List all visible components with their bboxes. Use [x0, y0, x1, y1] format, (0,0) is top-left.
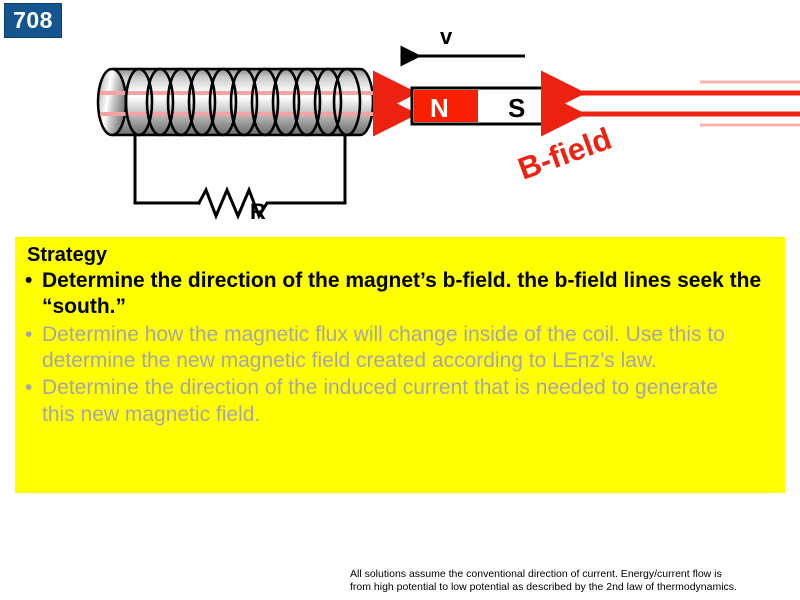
bfield-arrows-right — [546, 82, 800, 125]
strategy-bullet-3: • Determine the direction of the induced… — [25, 375, 775, 428]
bullet-marker: • — [25, 268, 42, 294]
bullet-marker: • — [25, 375, 42, 401]
diagram-svg: R — [0, 0, 800, 235]
bullet-marker: • — [25, 322, 42, 348]
strategy-bullet-3-text: Determine the direction of the induced c… — [42, 375, 775, 428]
strategy-bullet-2: • Determine how the magnetic flux will c… — [25, 322, 775, 375]
strategy-bullet-1-text: Determine the direction of the magnet’s … — [42, 268, 775, 321]
strategy-bullet-1: • Determine the direction of the magnet’… — [25, 268, 775, 321]
magnet-north-label: N — [430, 93, 449, 123]
strategy-box: Strategy • Determine the direction of th… — [15, 237, 785, 493]
footer-line-2: from high potential to low potential as … — [350, 581, 790, 594]
strategy-bullet-2-text: Determine how the magnetic flux will cha… — [42, 322, 775, 375]
magnet-south-label: S — [508, 93, 525, 123]
footer-line-1: All solutions assume the conventional di… — [350, 568, 790, 581]
footer-note: All solutions assume the conventional di… — [350, 568, 790, 594]
bar-magnet: N S — [412, 88, 544, 124]
bfield-arrows-left — [378, 93, 412, 114]
strategy-title: Strategy — [27, 245, 775, 267]
induction-diagram: R — [0, 0, 800, 235]
solenoid-core — [98, 69, 386, 135]
velocity-label: v — [440, 24, 453, 49]
resistor-label: R — [250, 199, 266, 224]
bfield-label: B-field — [513, 121, 616, 187]
